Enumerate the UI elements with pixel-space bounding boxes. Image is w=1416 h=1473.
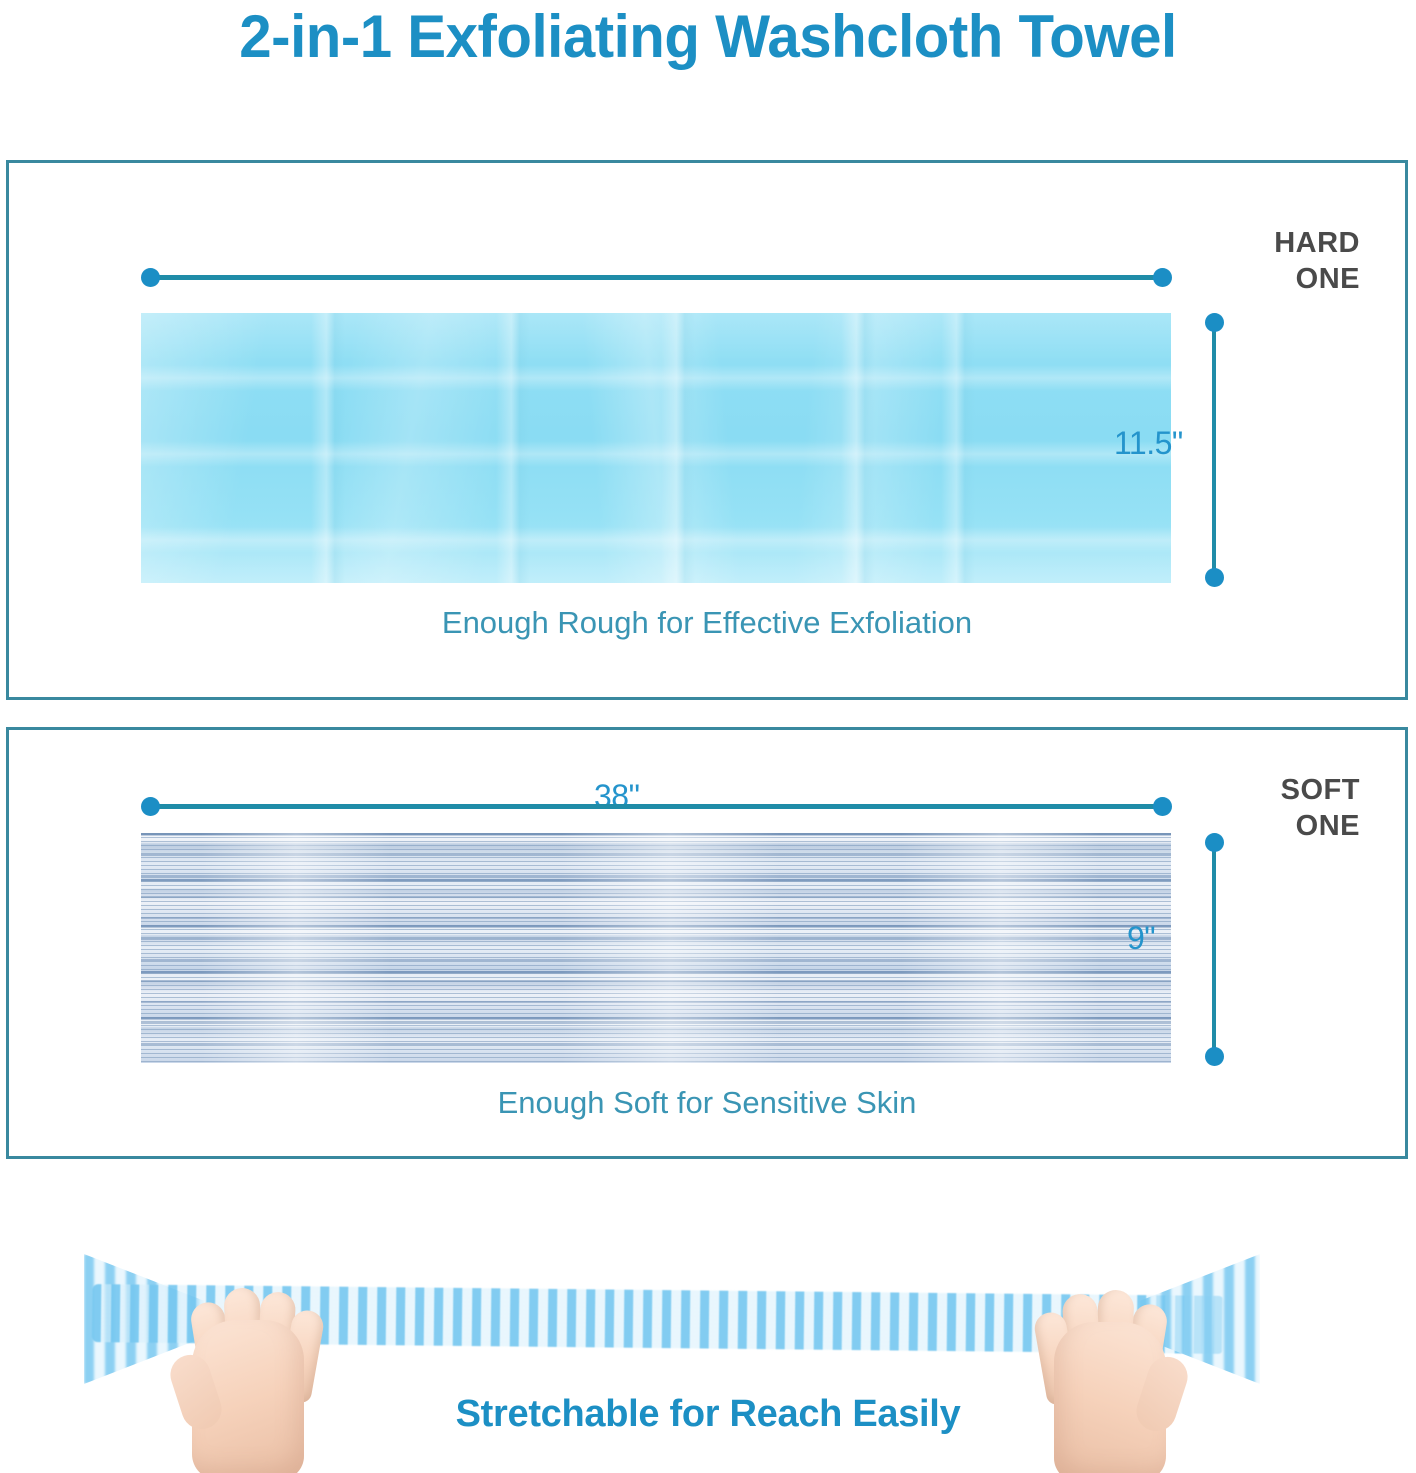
panel-hard-one: HARD ONE 34.5" 11.5" Enough Rough for Ef… — [6, 160, 1408, 700]
product-infographic: 2-in-1 Exfoliating Washcloth Towel HARD … — [0, 0, 1416, 1473]
dimension-line-soft-height — [1212, 842, 1216, 1057]
soft-ribbed-towel-swatch — [141, 833, 1171, 1063]
dimension-line-soft-width — [150, 804, 1163, 809]
left-hand-gripping-towel — [170, 1262, 340, 1473]
dimension-text-soft-height: 9" — [1127, 920, 1155, 957]
right-hand-gripping-towel — [1018, 1264, 1188, 1473]
variant-label-hard-line1: HARD — [1274, 225, 1360, 261]
dimension-line-hard-width — [150, 275, 1163, 280]
variant-label-hard: HARD ONE — [1274, 225, 1360, 297]
dimension-text-soft-width: 38" — [594, 778, 639, 815]
hard-exfoliating-towel-swatch — [141, 313, 1171, 583]
stretch-illustration: Stretchable for Reach Easily — [0, 1190, 1416, 1473]
variant-label-soft: SOFT ONE — [1281, 772, 1360, 844]
variant-label-soft-line1: SOFT — [1281, 772, 1360, 808]
dimension-text-hard-height: 11.5" — [1114, 425, 1183, 462]
variant-label-hard-line2: ONE — [1274, 261, 1360, 297]
page-title: 2-in-1 Exfoliating Washcloth Towel — [21, 2, 1395, 72]
caption-hard: Enough Rough for Effective Exfoliation — [9, 605, 1405, 641]
panel-soft-one: SOFT ONE 38" 9" Enough Soft for Sensitiv… — [6, 727, 1408, 1159]
variant-label-soft-line2: ONE — [1281, 808, 1360, 844]
caption-soft: Enough Soft for Sensitive Skin — [9, 1085, 1405, 1121]
caption-stretchable: Stretchable for Reach Easily — [0, 1393, 1416, 1436]
dimension-line-hard-height — [1212, 322, 1216, 578]
